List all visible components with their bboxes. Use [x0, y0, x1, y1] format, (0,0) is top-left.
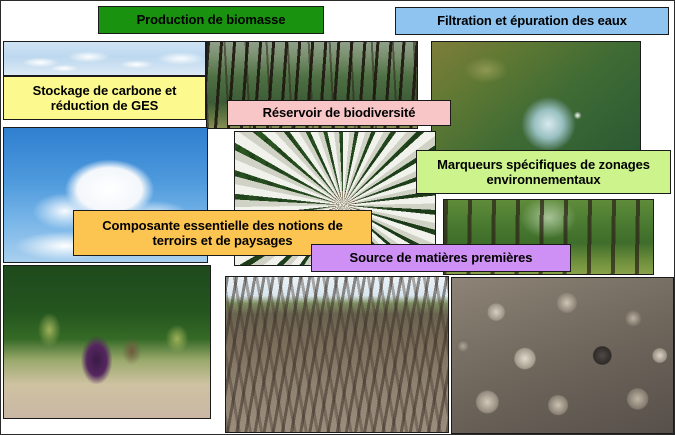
label-marqueurs-zonages: Marqueurs spécifiques de zonages environ… [416, 150, 671, 194]
photo-vineyard [3, 265, 211, 419]
soil-ecosystem-services-poster: Production de biomasse Filtration et épu… [0, 0, 675, 435]
photo-sky-strip-image [4, 42, 205, 75]
photo-vineyard-image [4, 266, 210, 418]
label-production-de-biomasse: Production de biomasse [98, 6, 324, 34]
photo-brick-field-image [226, 277, 448, 432]
photo-sky-strip [3, 41, 206, 76]
label-filtration-epuration-text: Filtration et épuration des eaux [437, 13, 627, 28]
photo-water-drop-image [432, 42, 640, 150]
label-production-de-biomasse-text: Production de biomasse [137, 12, 286, 27]
label-source-matieres-premieres-text: Source de matières premières [350, 250, 533, 265]
label-reservoir-biodiversite-text: Réservoir de biodiversité [263, 105, 416, 120]
label-source-matieres-premieres: Source de matières premières [311, 244, 571, 272]
photo-water-drop [431, 41, 641, 151]
label-reservoir-biodiversite: Réservoir de biodiversité [227, 100, 451, 126]
label-marqueurs-zonages-text: Marqueurs spécifiques de zonages environ… [423, 157, 664, 188]
label-stockage-carbone-text: Stockage de carbone et réduction de GES [10, 83, 199, 114]
photo-brick-field [225, 276, 449, 433]
photo-pebbles [451, 277, 674, 434]
photo-pebbles-image [452, 278, 673, 433]
label-stockage-carbone: Stockage de carbone et réduction de GES [3, 76, 206, 120]
label-filtration-epuration: Filtration et épuration des eaux [395, 7, 669, 35]
